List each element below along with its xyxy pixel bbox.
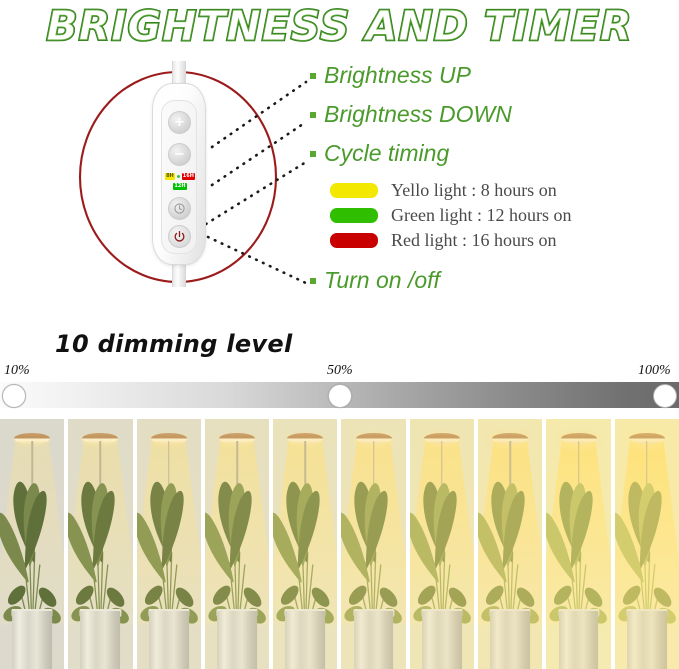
- planter-pot: [81, 609, 121, 669]
- planter-pot: [490, 609, 530, 669]
- legend-chip-yellow: [330, 183, 378, 198]
- planter-pot: [422, 609, 462, 669]
- planter-pot: [559, 609, 599, 669]
- slider-handle-50[interactable]: [328, 384, 352, 408]
- callout-label: Brightness DOWN: [324, 101, 512, 128]
- callout-label: Cycle timing: [324, 140, 449, 167]
- slider-handle-10[interactable]: [2, 384, 26, 408]
- planter-pot: [12, 609, 52, 669]
- bullet-square-icon: [310, 151, 316, 157]
- led-badge-12h: 12H: [173, 183, 186, 190]
- leader-line-cycle: [206, 162, 306, 224]
- timer-legend: Yello light : 8 hours on Green light : 1…: [330, 178, 571, 253]
- legend-chip-green: [330, 208, 378, 223]
- dimming-mark-100: 100%: [638, 363, 671, 379]
- remote-controller: + − 8H 16H 12H: [152, 79, 204, 279]
- leader-line-up: [212, 82, 306, 147]
- page-title-inner-outline: BRIGHTNESS AND TIMER: [0, 2, 679, 50]
- leader-line-down: [212, 122, 306, 185]
- brightness-panel: [273, 419, 337, 669]
- callout-brightness-up: Brightness UP: [310, 62, 471, 89]
- led-indicator-row-2: 12H: [165, 183, 195, 190]
- bullet-square-icon: [310, 112, 316, 118]
- callout-label: Brightness UP: [324, 62, 471, 89]
- callout-label: Turn on /off: [324, 267, 440, 294]
- brightness-up-button[interactable]: +: [168, 111, 191, 134]
- callout-brightness-down: Brightness DOWN: [310, 101, 512, 128]
- brightness-comparison-strip: [0, 419, 679, 669]
- power-cord-top: [172, 61, 186, 85]
- legend-label: Green light : 12 hours on: [391, 205, 571, 226]
- legend-row-yellow: Yello light : 8 hours on: [330, 178, 571, 203]
- callout-turn-on-off: Turn on /off: [310, 267, 440, 294]
- legend-label: Yello light : 8 hours on: [391, 180, 557, 201]
- legend-row-green: Green light : 12 hours on: [330, 203, 571, 228]
- brightness-panel: [341, 419, 405, 669]
- leader-line-power: [208, 237, 308, 284]
- led-indicator-row-1: 8H 16H: [165, 173, 195, 180]
- led-dot-indicator: [177, 175, 180, 178]
- controller-body: + − 8H 16H 12H: [152, 83, 206, 265]
- brightness-down-button[interactable]: −: [168, 143, 191, 166]
- callout-cycle-timing: Cycle timing: [310, 140, 449, 167]
- brightness-panel: [410, 419, 474, 669]
- controller-diagram: + − 8H 16H 12H: [0, 52, 679, 322]
- legend-chip-red: [330, 233, 378, 248]
- brightness-panel: [137, 419, 201, 669]
- legend-row-red: Red light : 16 hours on: [330, 228, 571, 253]
- controller-button-panel: + − 8H 16H 12H: [161, 100, 197, 254]
- led-badge-8h: 8H: [165, 173, 175, 180]
- planter-pot: [217, 609, 257, 669]
- brightness-panel: [0, 419, 64, 669]
- planter-pot: [354, 609, 394, 669]
- planter-pot: [149, 609, 189, 669]
- brightness-panel: [205, 419, 269, 669]
- power-icon: [173, 230, 186, 243]
- led-badge-16h: 16H: [182, 173, 195, 180]
- dimming-mark-50: 50%: [327, 363, 353, 379]
- dimming-level-section: 10 dimming level 10% 50% 100%: [0, 330, 679, 415]
- bullet-square-icon: [310, 278, 316, 284]
- legend-label: Red light : 16 hours on: [391, 230, 557, 251]
- planter-pot: [627, 609, 667, 669]
- brightness-panel: [546, 419, 610, 669]
- slider-handle-100[interactable]: [653, 384, 677, 408]
- bullet-square-icon: [310, 73, 316, 79]
- dimming-title: 10 dimming level: [55, 330, 292, 358]
- title-bar: BRIGHTNESS AND TIMER BRIGHTNESS AND TIME…: [0, 0, 679, 58]
- cycle-timing-button[interactable]: [168, 197, 191, 220]
- planter-pot: [285, 609, 325, 669]
- clock-icon: [173, 202, 186, 215]
- brightness-panel: [68, 419, 132, 669]
- power-button[interactable]: [168, 225, 191, 248]
- brightness-panel: [478, 419, 542, 669]
- brightness-panel: [615, 419, 679, 669]
- dimming-mark-10: 10%: [4, 363, 30, 379]
